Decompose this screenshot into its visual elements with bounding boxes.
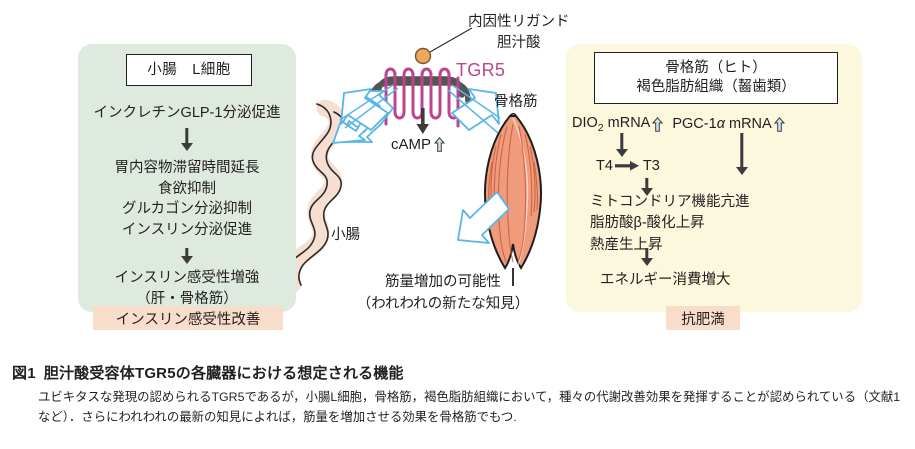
tgr5-label: TGR5 — [456, 60, 505, 81]
camp-text: cAMP — [391, 136, 431, 153]
right-outcome: エネルギー消費増大 — [600, 268, 731, 289]
intestine-label: 小腸 — [331, 223, 360, 244]
right-effect-2: 熱産生上昇 — [590, 235, 750, 256]
right-panel-header: 骨格筋（ヒト） 褐色脂肪組織（齧歯類） — [594, 52, 838, 104]
right-header-line-1: 骨格筋（ヒト） — [665, 59, 767, 78]
left-step2-line-1: 食欲抑制 — [78, 179, 296, 200]
left-step1: インクレチンGLP-1分泌促進 — [78, 103, 296, 124]
up-arrow-icon — [774, 117, 785, 132]
new-finding-label: 筋量増加の可能性 （われわれの新たな知見） — [336, 272, 550, 316]
left-panel-header: 小腸 L細胞 — [126, 54, 252, 86]
caption-title-row: 図1胆汁酸受容体TGR5の各臓器における想定される機能 — [12, 362, 902, 383]
muscle-label: 骨格筋 — [494, 90, 538, 111]
pgc1a-label: PGC-1α mRNA — [672, 116, 771, 132]
figure-diagram: 小腸 L細胞 インクレチンGLP-1分泌促進 胃内容物滞留時間延長 食欲抑制 グ… — [0, 0, 915, 355]
camp-label: cAMP — [391, 136, 445, 153]
right-effects: ミトコンドリア機能亢進 脂肪酸β-酸化上昇 熱産生上昇 — [590, 192, 750, 256]
badge-anti-obesity: 抗肥満 — [666, 306, 740, 330]
right-header-line-2: 褐色脂肪組織（齧歯類） — [636, 78, 796, 97]
up-arrow-icon — [434, 137, 445, 152]
mrna-row: DIO2 mRNA PGC-1α mRNA — [572, 115, 785, 134]
new-finding-line-1: 筋量増加の可能性 — [336, 272, 550, 294]
t3-label: T3 — [643, 158, 660, 174]
ligand-circle — [416, 49, 431, 64]
left-step3-line-0: インスリン感受性増強 — [78, 268, 296, 289]
figure-caption: 図1胆汁酸受容体TGR5の各臓器における想定される機能 ユビキタスな発現の認めら… — [12, 362, 902, 427]
new-finding-line-2: （われわれの新たな知見） — [336, 294, 550, 316]
figure-number: 図1 — [12, 365, 36, 382]
left-step2-line-3: インスリン分泌促進 — [78, 220, 296, 241]
ligand-label: 内因性リガンド 胆汁酸 — [468, 12, 570, 54]
ligand-label-line-2: 胆汁酸 — [468, 33, 570, 54]
t4-label: T4 — [596, 158, 613, 174]
left-step2-line-2: グルカゴン分泌抑制 — [78, 199, 296, 220]
badge-insulin-sensitivity: インスリン感受性改善 — [93, 306, 283, 330]
badge-right-text: 抗肥満 — [681, 308, 725, 329]
right-effect-1: 脂肪酸β-酸化上昇 — [590, 213, 750, 234]
right-effect-0: ミトコンドリア機能亢進 — [590, 192, 750, 213]
caption-title: 胆汁酸受容体TGR5の各臓器における想定される機能 — [44, 365, 404, 382]
left-step2: 胃内容物滞留時間延長 食欲抑制 グルカゴン分泌抑制 インスリン分泌促進 — [78, 158, 296, 240]
left-step3: インスリン感受性増強 （肝・骨格筋） — [78, 268, 296, 309]
ligand-label-line-1: 内因性リガンド — [468, 12, 570, 33]
ligand-leader-line — [430, 28, 472, 52]
up-arrow-icon — [652, 117, 663, 132]
camp-down-arrow — [417, 108, 430, 134]
left-step2-line-0: 胃内容物滞留時間延長 — [78, 158, 296, 179]
dio2-label: DIO2 mRNA — [572, 115, 650, 134]
right-arrow-icon — [615, 160, 641, 172]
t4-t3-row: T4 T3 — [596, 158, 660, 174]
caption-body: ユビキタスな発現の認められるTGR5であるが，小腸L細胞，骨格筋，褐色脂肪組織に… — [38, 387, 902, 427]
badge-left-text: インスリン感受性改善 — [116, 308, 261, 329]
left-header-text: 小腸 L細胞 — [147, 61, 231, 80]
